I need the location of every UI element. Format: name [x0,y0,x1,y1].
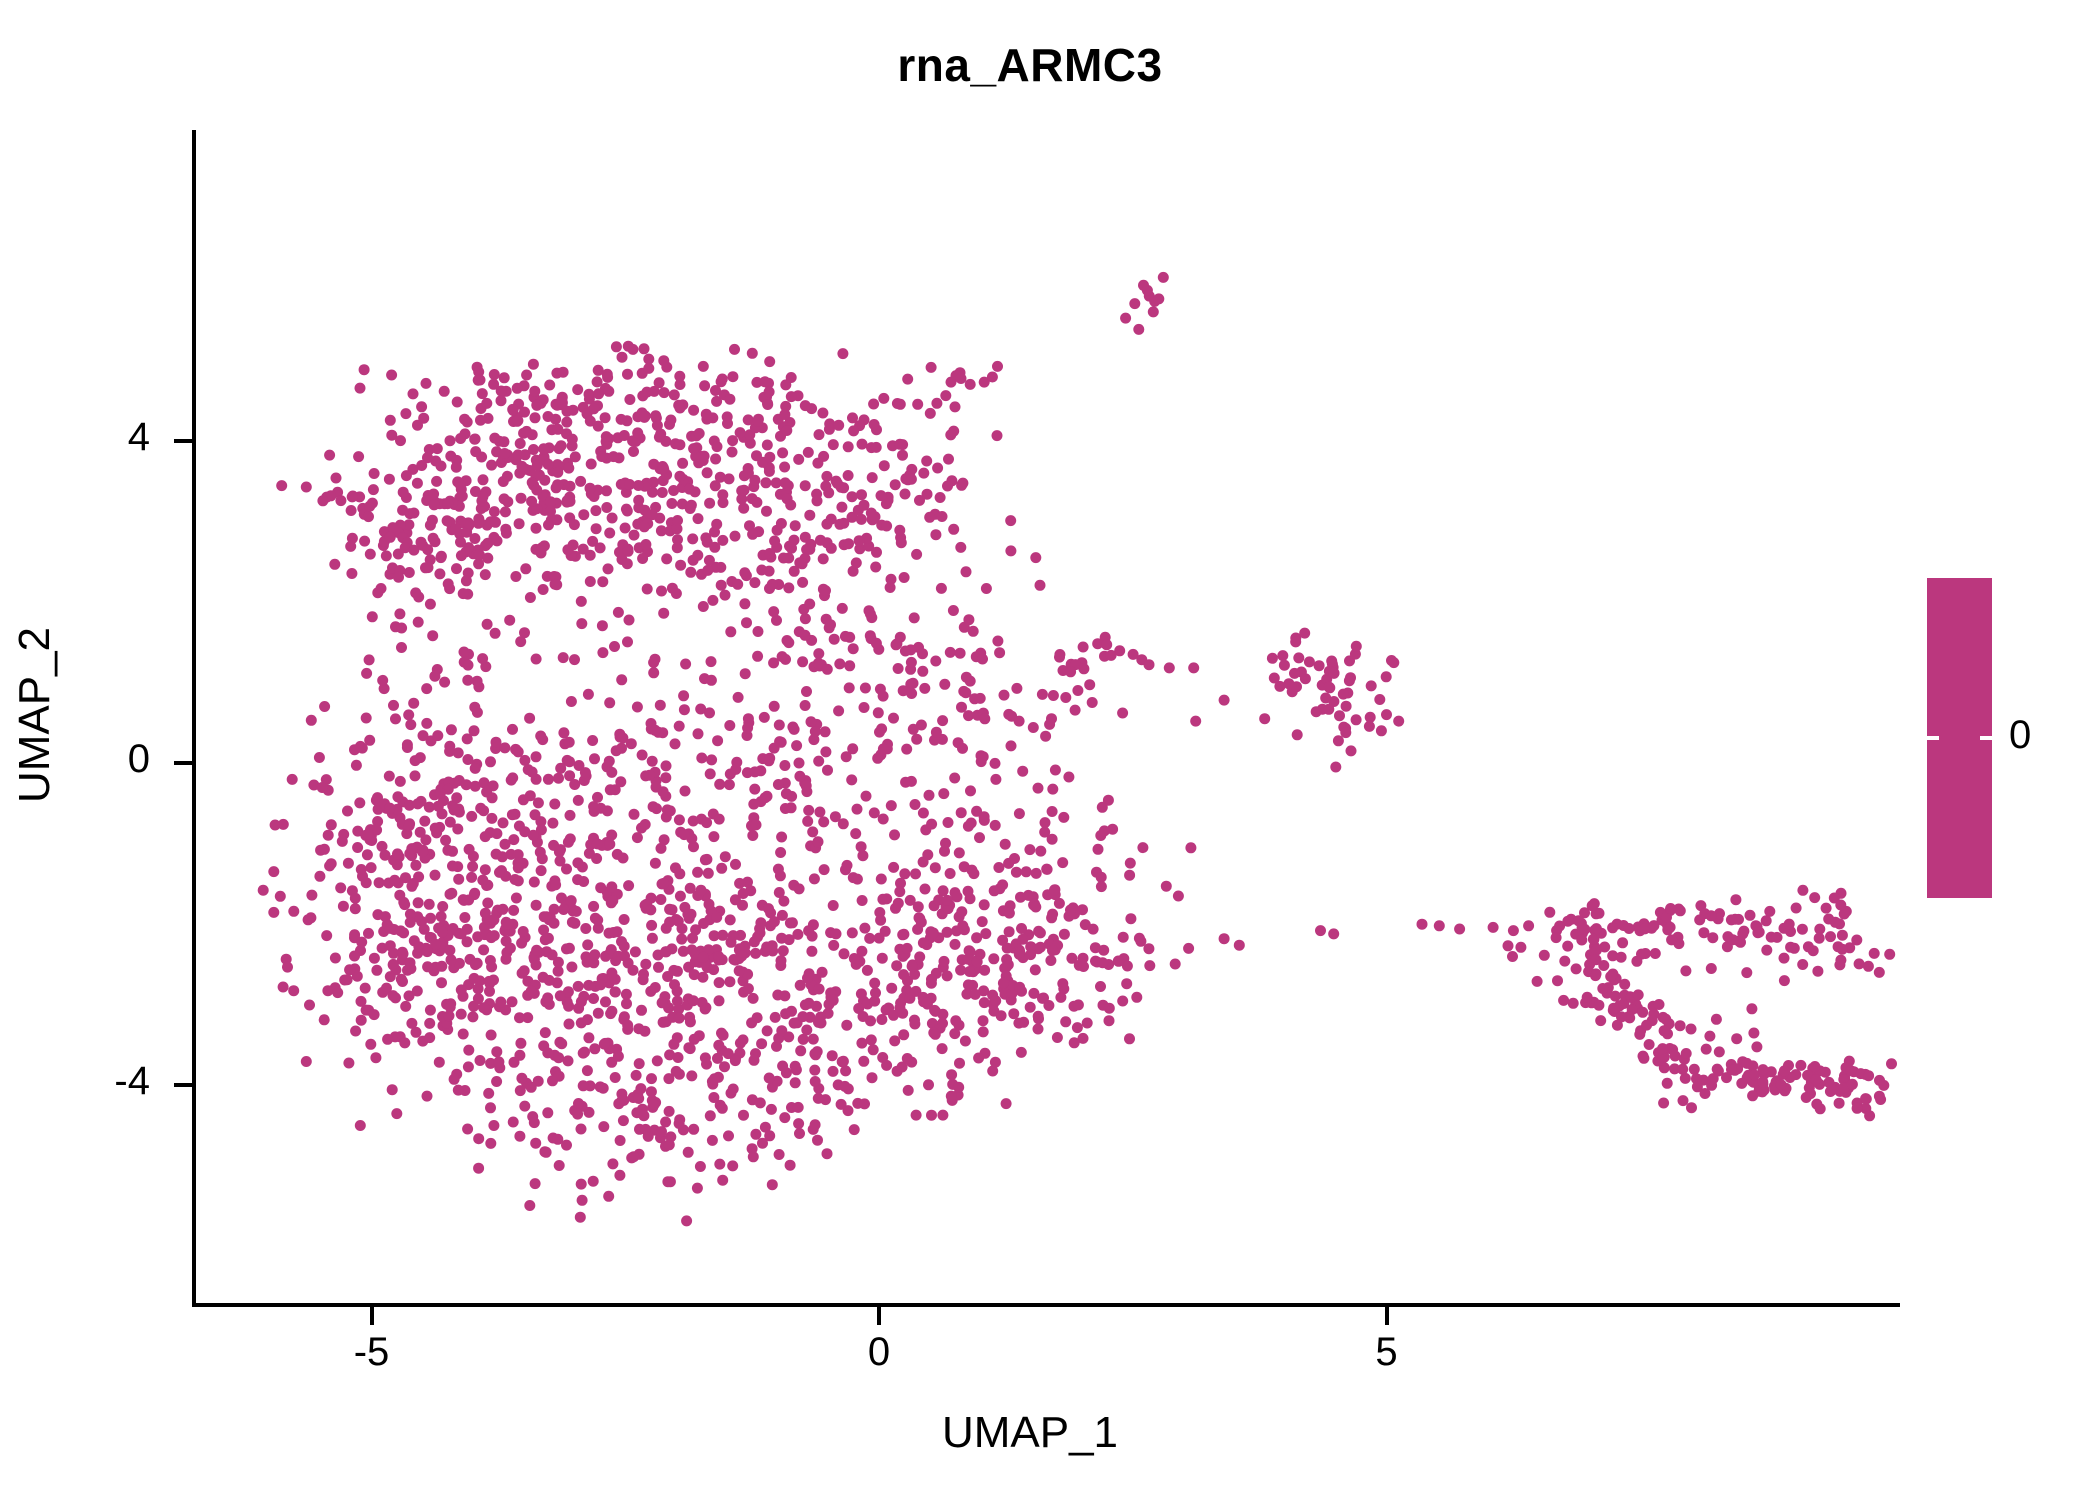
x-axis-tick-mark [877,1307,881,1325]
colorbar-legend[interactable]: 0 [1927,578,1992,898]
x-axis-title: UMAP_1 [0,1408,2060,1458]
colorbar-tick-left [1927,736,1939,740]
y-axis-title: UMAP_2 [10,565,60,865]
x-axis-tick-label: 5 [1307,1330,1467,1375]
colorbar-tick-label-0: 0 [2009,713,2031,758]
x-axis-tick-label: 0 [799,1330,959,1375]
chart-canvas: rna_ARMC3 40-4 -505 UMAP_1 UMAP_2 0 [0,0,2100,1500]
colorbar-tick-right [1980,736,1992,740]
x-axis-tick-mark [370,1307,374,1325]
x-axis-tick-label: -5 [292,1330,452,1375]
y-axis-tick-mark [174,761,192,765]
y-axis-tick-label: -4 [0,1059,150,1104]
scatter-points-layer [0,0,2100,1500]
y-axis-tick-mark [174,1083,192,1087]
scatter-series-rna-armc3 [258,272,1897,1227]
y-axis-tick-mark [174,439,192,443]
x-axis-tick-mark [1385,1307,1389,1325]
y-axis-tick-label: 4 [0,415,150,460]
